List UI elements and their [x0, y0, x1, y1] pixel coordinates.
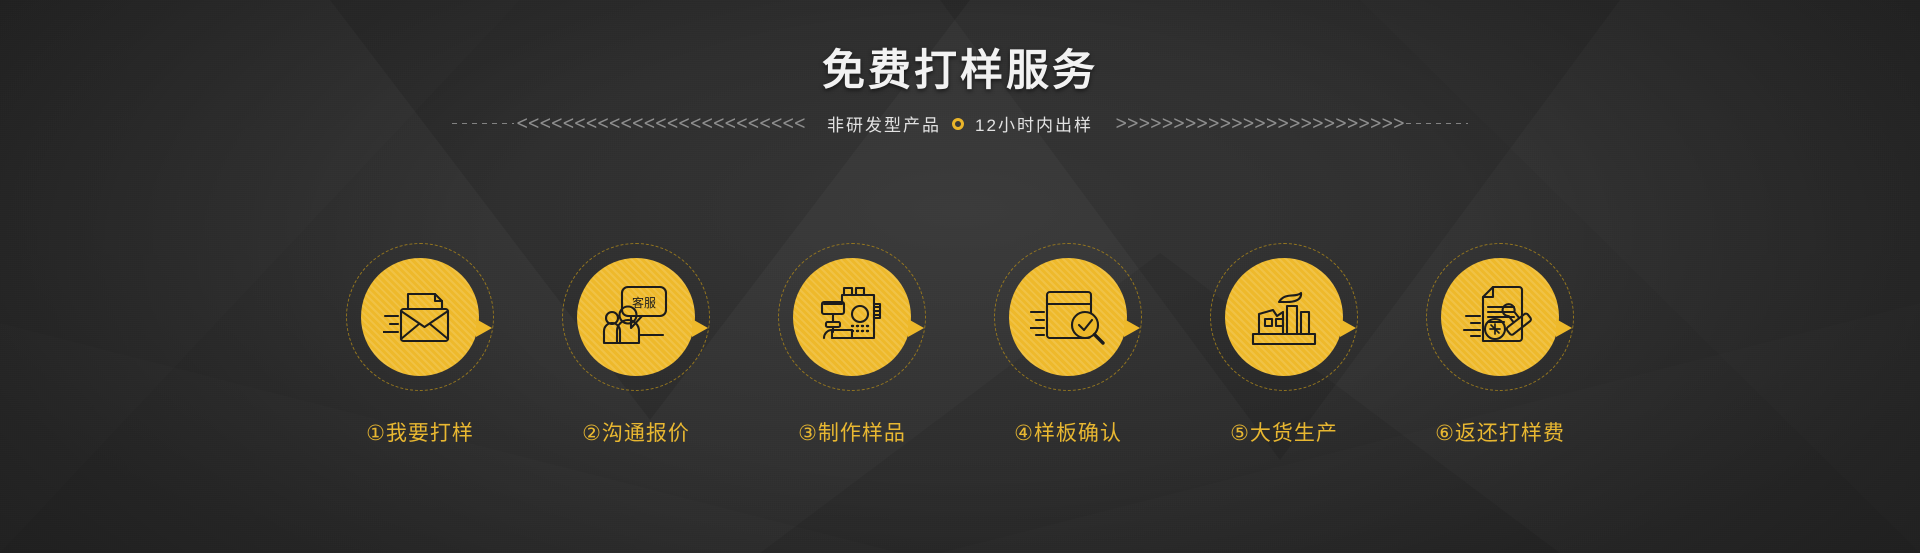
bubble-tail-2 [692, 319, 708, 337]
step-icon-wrap-3 [778, 243, 926, 391]
free-sampling-service-banner: 免费打样服务 <<<<<<<<<<<<<<<<<<<<<<<<< 非研发型产品 … [0, 0, 1920, 553]
subtitle-left-text: 非研发型产品 [827, 111, 941, 136]
bubble-tail-5 [1340, 319, 1356, 337]
step-label-5: ⑤大货生产 [1230, 417, 1338, 447]
sample-check-icon [1030, 286, 1106, 348]
step-bubble-2[interactable]: 客服 [577, 258, 695, 376]
customer-service-bubble-text: 客服 [632, 295, 656, 310]
bubble-tail-6 [1556, 319, 1572, 337]
ring-icon [952, 118, 964, 130]
step-label-2: ②沟通报价 [582, 417, 690, 447]
step-item-1[interactable]: ①我要打样 [331, 243, 509, 447]
subtitle-row: <<<<<<<<<<<<<<<<<<<<<<<<< 非研发型产品 12小时内出样… [0, 111, 1920, 137]
document-stamp-icon [1462, 285, 1538, 349]
factory-icon [1249, 286, 1319, 348]
step-bubble-6[interactable] [1441, 258, 1559, 376]
step-bubble-5[interactable] [1225, 258, 1343, 376]
page-title: 免费打样服务 [0, 46, 1920, 97]
step-label-4: ④样板确认 [1014, 417, 1122, 447]
step-icon-wrap-4 [994, 243, 1142, 391]
chevrons-left-icon: <<<<<<<<<<<<<<<<<<<<<<<<< [516, 114, 805, 133]
chevrons-right-icon: >>>>>>>>>>>>>>>>>>>>>>>>> [1115, 114, 1404, 133]
customer-service-icon: 客服 [601, 285, 671, 349]
dash-line-right [1406, 123, 1468, 124]
subtitle-right-text: 12小时内出样 [975, 111, 1093, 136]
step-label-6: ⑥返还打样费 [1435, 417, 1565, 447]
step-icon-wrap-5 [1210, 243, 1358, 391]
step-icon-wrap-1 [346, 243, 494, 391]
banner-header: 免费打样服务 <<<<<<<<<<<<<<<<<<<<<<<<< 非研发型产品 … [0, 46, 1920, 137]
step-bubble-1[interactable] [361, 258, 479, 376]
step-label-1: ①我要打样 [366, 417, 474, 447]
step-label-3: ③制作样品 [798, 417, 906, 447]
dash-line-left [452, 123, 514, 124]
envelope-mail-icon [383, 286, 457, 348]
bubble-tail-3 [908, 319, 924, 337]
step-item-2[interactable]: 客服 ②沟通报价 [547, 243, 725, 447]
step-bubble-4[interactable] [1009, 258, 1127, 376]
step-item-6[interactable]: ⑥返还打样费 [1411, 243, 1589, 447]
bubble-tail-4 [1124, 319, 1140, 337]
bubble-tail-1 [476, 319, 492, 337]
process-steps: ①我要打样 客服 [0, 243, 1920, 447]
step-icon-wrap-2: 客服 [562, 243, 710, 391]
sewing-machine-icon [818, 286, 886, 348]
step-item-3[interactable]: ③制作样品 [763, 243, 941, 447]
step-item-5[interactable]: ⑤大货生产 [1195, 243, 1373, 447]
step-icon-wrap-6 [1426, 243, 1574, 391]
step-bubble-3[interactable] [793, 258, 911, 376]
subtitle: 非研发型产品 12小时内出样 [805, 111, 1115, 136]
step-item-4[interactable]: ④样板确认 [979, 243, 1157, 447]
